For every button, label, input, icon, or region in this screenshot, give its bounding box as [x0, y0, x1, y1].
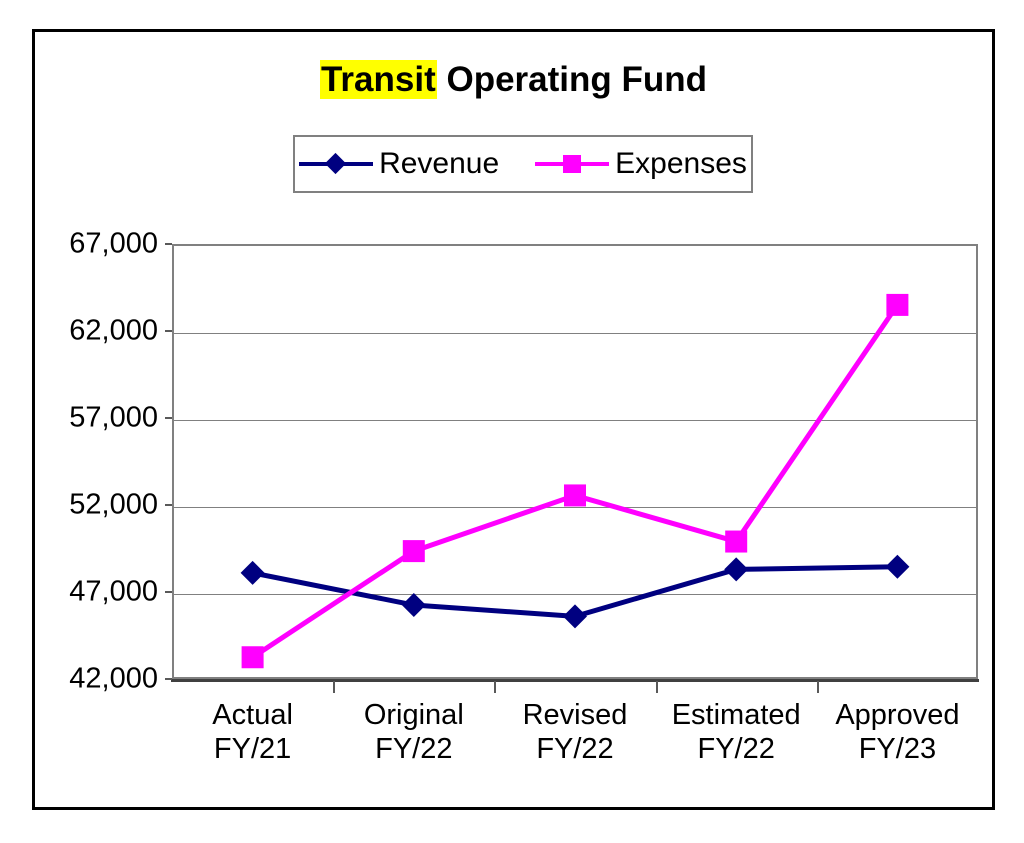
- y-axis-tick-label: 42,000: [69, 663, 158, 696]
- legend-marker-square: [563, 155, 581, 173]
- y-axis-tick-mark: [165, 504, 172, 506]
- data-point-revenue-0: [241, 561, 265, 585]
- x-axis-tick-mark: [656, 681, 658, 693]
- x-axis-line: [171, 679, 979, 682]
- legend-diamond-icon: [299, 153, 373, 175]
- x-axis-tick-mark: [817, 681, 819, 693]
- data-point-expenses-0: [242, 646, 264, 668]
- x-axis-category-line: Actual: [212, 699, 293, 733]
- x-axis-category-line: FY/22: [364, 733, 464, 767]
- chart-title-rest: Operating Fund: [437, 60, 707, 99]
- legend-item-expenses: Expenses: [535, 147, 747, 181]
- y-axis-tick-mark: [165, 330, 172, 332]
- legend-item-revenue: Revenue: [299, 147, 499, 181]
- y-axis-tick-label: 62,000: [69, 315, 158, 348]
- chart-frame: Transit Operating Fund RevenueExpenses 4…: [32, 29, 995, 810]
- x-axis-category-line: Original: [364, 699, 464, 733]
- y-axis-tick-mark: [165, 678, 172, 680]
- chart-title-highlight: Transit: [320, 60, 437, 99]
- data-point-revenue-2: [563, 604, 587, 628]
- x-axis-category-line: Approved: [835, 699, 959, 733]
- y-axis-tick-label: 67,000: [69, 228, 158, 261]
- legend-marker-diamond: [325, 153, 346, 174]
- chart-title: Transit Operating Fund: [35, 60, 992, 100]
- legend-label: Expenses: [615, 147, 747, 181]
- data-point-revenue-3: [724, 557, 748, 581]
- x-axis-category-line: Estimated: [672, 699, 801, 733]
- x-axis-tick-mark: [333, 681, 335, 693]
- data-point-expenses-4: [886, 294, 908, 316]
- x-axis-category-label: OriginalFY/22: [364, 699, 464, 767]
- y-axis-tick-mark: [165, 243, 172, 245]
- legend-label: Revenue: [379, 147, 499, 181]
- data-point-expenses-1: [403, 540, 425, 562]
- plot-wrapper: 42,00047,00052,00057,00062,00067,000Actu…: [172, 244, 978, 679]
- data-point-expenses-3: [725, 531, 747, 553]
- x-axis-category-line: FY/21: [212, 733, 293, 767]
- series-layer: [172, 244, 978, 679]
- x-axis-category-line: FY/22: [672, 733, 801, 767]
- chart-legend: RevenueExpenses: [293, 135, 753, 193]
- y-axis-tick-label: 57,000: [69, 402, 158, 435]
- x-axis-category-label: RevisedFY/22: [523, 699, 628, 767]
- y-axis-tick-label: 47,000: [69, 576, 158, 609]
- y-axis-tick-label: 52,000: [69, 489, 158, 522]
- y-axis-tick-mark: [165, 417, 172, 419]
- legend-square-icon: [535, 153, 609, 175]
- x-axis-category-line: FY/22: [523, 733, 628, 767]
- x-axis-category-line: Revised: [523, 699, 628, 733]
- data-point-revenue-1: [402, 593, 426, 617]
- x-axis-category-label: ApprovedFY/23: [835, 699, 959, 767]
- data-point-revenue-4: [885, 555, 909, 579]
- y-axis-tick-mark: [165, 591, 172, 593]
- x-axis-category-label: EstimatedFY/22: [672, 699, 801, 767]
- x-axis-category-line: FY/23: [835, 733, 959, 767]
- data-point-expenses-2: [564, 484, 586, 506]
- x-axis-tick-mark: [494, 681, 496, 693]
- x-axis-category-label: ActualFY/21: [212, 699, 293, 767]
